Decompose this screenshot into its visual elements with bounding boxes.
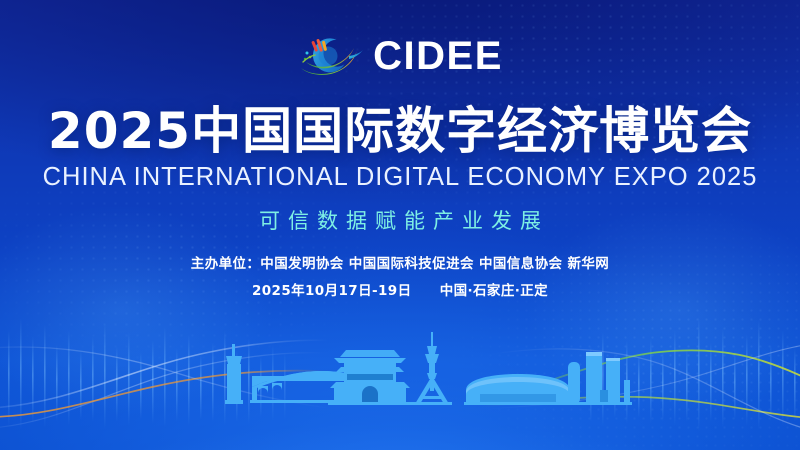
expo-poster: CIDEE 2025中国国际数字经济博览会 CHINA INTERNATIONA… — [0, 0, 800, 450]
event-location: 中国·石家庄·正定 — [440, 283, 548, 299]
brand-logo: CIDEE — [297, 30, 503, 82]
page-title-english: CHINA INTERNATIONAL DIGITAL ECONOMY EXPO… — [43, 165, 758, 191]
poster-content: CIDEE 2025中国国际数字经济博览会 CHINA INTERNATIONA… — [0, 0, 800, 450]
cidee-wordmark: CIDEE — [373, 36, 503, 76]
cidee-globe-swoosh-logo-icon — [297, 32, 363, 80]
organizers-line: 主办单位：中国发明协会 中国国际科技促进会 中国信息协会 新华网 — [191, 258, 609, 272]
date-location-line: 2025年10月17日-19日 中国·石家庄·正定 — [252, 285, 548, 299]
event-date: 2025年10月17日-19日 — [252, 283, 412, 299]
slogan-chinese: 可信数据赋能产业发展 — [251, 211, 549, 232]
page-title-chinese: 2025中国国际数字经济博览会 — [48, 104, 752, 158]
